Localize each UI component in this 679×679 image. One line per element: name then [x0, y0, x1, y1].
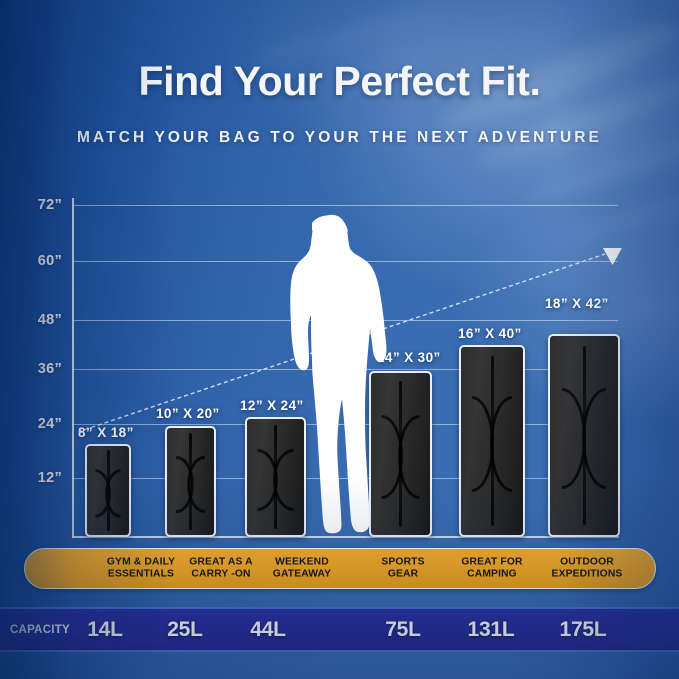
bag-5[interactable]: [459, 345, 525, 537]
y-axis-tick-label: 60”: [38, 253, 62, 269]
y-axis-tick-label: 12”: [38, 470, 62, 486]
capacity-value-1: 14L: [87, 618, 123, 642]
bag-highlight: [461, 347, 523, 535]
use-case-bar: GYM & DAILY ESSENTIALS GREAT AS A CARRY …: [24, 548, 656, 589]
capacity-label: CAPACITY: [10, 624, 70, 636]
y-axis-tick-label: 72”: [38, 197, 62, 213]
page-title: Find Your Perfect Fit.: [0, 58, 679, 105]
use-case-6: OUTDOOR EXPEDITIONS: [552, 556, 623, 581]
capacity-value-5: 131L: [467, 618, 514, 642]
bag-size-label-2: 10” X 20”: [156, 406, 220, 421]
capacity-band: CAPACITY 14L 25L 44L 75L 131L 175L: [0, 607, 679, 652]
bag-size-label-6: 18” X 42”: [545, 296, 609, 311]
use-case-3: WEEKEND GATEAWAY: [273, 556, 331, 581]
bag-highlight: [550, 336, 618, 535]
use-case-1: GYM & DAILY ESSENTIALS: [107, 556, 175, 581]
bag-1[interactable]: [85, 444, 131, 537]
use-case-5: GREAT FOR CAMPING: [461, 556, 522, 581]
use-case-4: SPORTS GEAR: [381, 556, 424, 581]
gridline: [72, 205, 618, 206]
infographic-canvas: Find Your Perfect Fit. MATCH YOUR BAG TO…: [0, 0, 679, 679]
use-case-2: GREAT AS A CARRY -ON: [189, 556, 252, 581]
bag-highlight: [167, 428, 214, 535]
capacity-value-2: 25L: [167, 618, 203, 642]
bag-6[interactable]: [548, 334, 620, 537]
y-axis-tick-label: 48”: [38, 312, 62, 328]
bag-highlight: [87, 446, 129, 535]
capacity-value-6: 175L: [559, 618, 606, 642]
person-silhouette-icon: [286, 213, 394, 538]
y-axis-tick-label: 36”: [38, 361, 62, 377]
capacity-value-3: 44L: [250, 618, 286, 642]
y-axis-tick-label: 24”: [38, 416, 62, 432]
capacity-value-4: 75L: [385, 618, 421, 642]
page-subtitle: MATCH YOUR BAG TO YOUR THE NEXT ADVENTUR…: [0, 129, 679, 147]
bag-size-label-1: 8” X 18”: [78, 425, 134, 440]
bag-2[interactable]: [165, 426, 216, 537]
capacity-row: CAPACITY 14L 25L 44L 75L 131L 175L: [0, 604, 679, 651]
bag-size-label-5: 16” X 40”: [458, 326, 522, 341]
